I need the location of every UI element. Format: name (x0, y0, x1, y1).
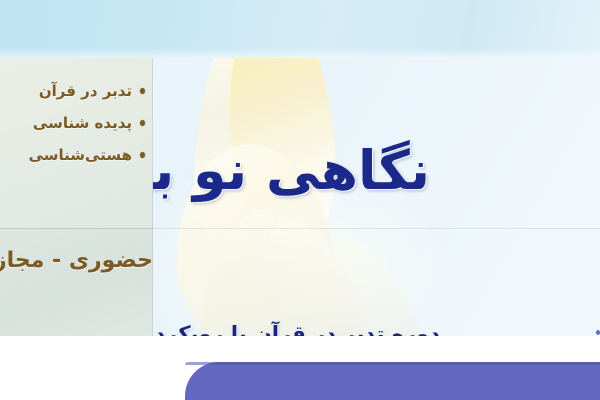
topic-label: هستی‌شناسی (5, 146, 132, 164)
list-item: هستی‌شناسی (5, 146, 145, 164)
stage-divider (153, 228, 600, 229)
bottom-purple-ribbon (185, 362, 600, 400)
attendance-mode-label: حضوری - مجازی (0, 248, 153, 273)
bullet-dot-icon (140, 88, 145, 94)
bottom-ribbon-highlight (185, 362, 600, 365)
bullet-dot-icon (140, 120, 145, 126)
topics-list: تدبر در قرآن پدیده شناسی هستی‌شناسی (5, 82, 145, 164)
ribbon-corner-speck (596, 330, 600, 335)
topics-panel-lower (0, 229, 153, 336)
topics-panel-divider (0, 228, 153, 229)
promotional-banner: نگاهی نو به هستی دوره تدبر در قرآن با رو… (0, 0, 600, 400)
bullet-dot-icon (140, 152, 145, 158)
topics-panel: تدبر در قرآن پدیده شناسی هستی‌شناسی حضور… (0, 58, 153, 336)
top-sky-band (0, 0, 600, 58)
flower-petal-lower-right-icon (296, 224, 443, 336)
banner-stage: نگاهی نو به هستی دوره تدبر در قرآن با رو… (0, 58, 600, 336)
list-item: تدبر در قرآن (5, 82, 145, 100)
flower-petal-lower-left-icon (187, 202, 300, 336)
list-item: پدیده شناسی (5, 114, 145, 132)
page-title: نگاهی نو به هستی (175, 144, 430, 198)
topic-label: تدبر در قرآن (5, 82, 132, 100)
topics-panel-edge (152, 58, 153, 336)
topic-label: پدیده شناسی (5, 114, 132, 132)
banner-subtitle: دوره تدبر در قرآن با رویکرد شناخت قوانین… (162, 323, 440, 336)
